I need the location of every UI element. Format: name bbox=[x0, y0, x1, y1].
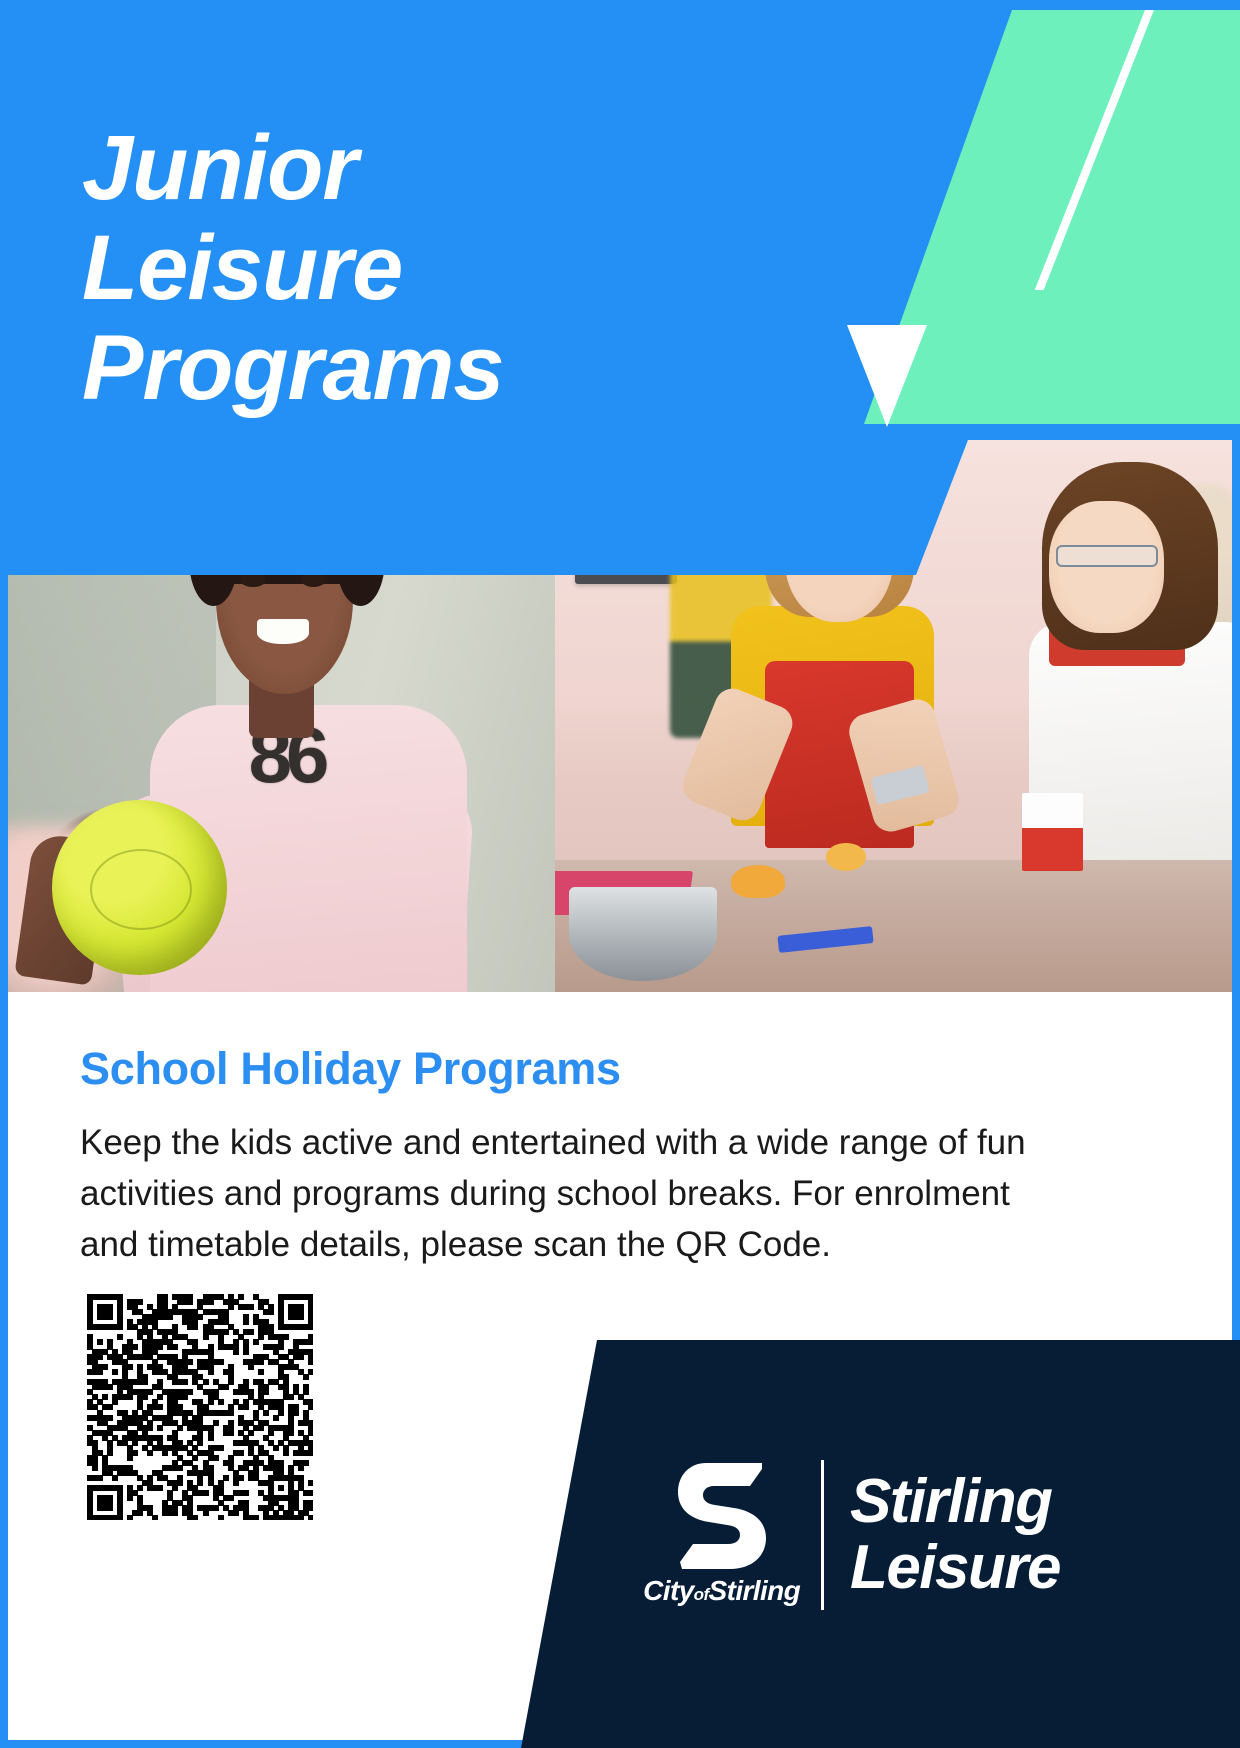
city-of-stirling-logo: CityofStirling bbox=[640, 1461, 803, 1609]
photo-dough-piece-2 bbox=[826, 843, 867, 871]
page-title-line-1: Junior bbox=[82, 118, 504, 218]
brand-line-2: Leisure bbox=[850, 1535, 1060, 1601]
photo-soccer-ball bbox=[52, 800, 227, 975]
wordmark-city: City bbox=[643, 1575, 694, 1606]
photo-mixing-bowl bbox=[569, 887, 718, 981]
page-title-line-3: Programs bbox=[82, 318, 504, 418]
body-paragraph: Keep the kids active and entertained wit… bbox=[80, 1117, 1040, 1270]
photo-dough-piece bbox=[731, 865, 785, 898]
logo-divider bbox=[821, 1460, 824, 1610]
city-of-stirling-wordmark: CityofStirling bbox=[643, 1577, 800, 1609]
page-title: Junior Leisure Programs bbox=[82, 118, 504, 418]
page-title-line-2: Leisure bbox=[82, 218, 504, 318]
photo-child2-glasses bbox=[1056, 545, 1158, 567]
photo-supply-box bbox=[1022, 793, 1083, 870]
logo-lockup: CityofStirling Stirling Leisure bbox=[640, 1440, 1060, 1630]
wordmark-stirling: Stirling bbox=[709, 1575, 801, 1606]
brand-line-1: Stirling bbox=[850, 1469, 1060, 1535]
stirling-s-icon bbox=[676, 1461, 768, 1571]
stirling-leisure-wordmark: Stirling Leisure bbox=[850, 1469, 1060, 1601]
wordmark-of: of bbox=[694, 1585, 709, 1604]
qr-code[interactable] bbox=[83, 1290, 317, 1524]
poster: 86 bbox=[0, 0, 1240, 1748]
photo-smile bbox=[257, 619, 309, 644]
white-triangle-icon bbox=[847, 325, 927, 427]
qr-code-canvas[interactable] bbox=[87, 1294, 313, 1520]
section-heading: School Holiday Programs bbox=[80, 1044, 621, 1094]
photo-child2-face bbox=[1049, 501, 1164, 633]
